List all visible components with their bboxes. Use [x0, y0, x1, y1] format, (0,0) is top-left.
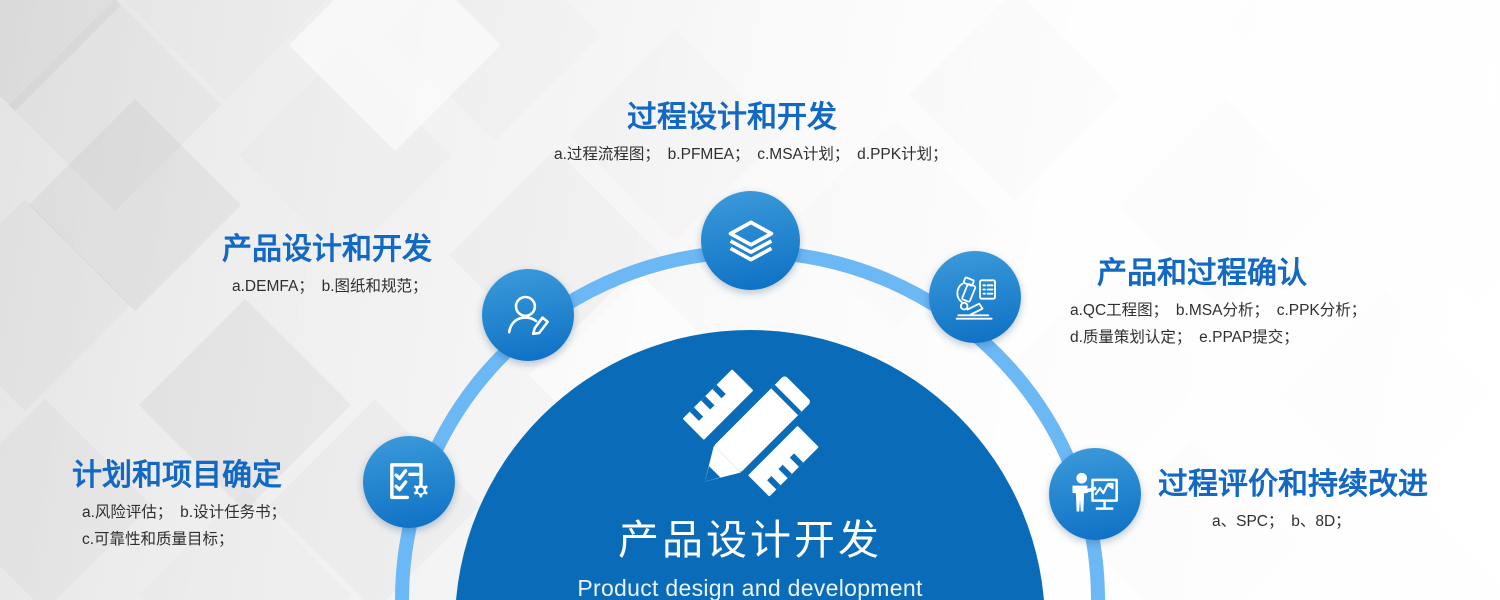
label-title: 产品和过程确认	[1097, 256, 1366, 291]
pattern-diamond	[0, 0, 121, 111]
pattern-diamond	[1229, 0, 1441, 131]
pattern-diamond	[389, 0, 601, 141]
pattern-diamond	[119, 0, 331, 101]
label-product-process-validation: 产品和过程确认 a.QC工程图； b.MSA分析； c.PPK分析； d.质量策…	[1097, 256, 1366, 352]
label-title: 产品设计和开发	[222, 232, 432, 267]
label-evaluation-improvement: 过程评价和持续改进 a、SPC； b、8D；	[1158, 467, 1428, 536]
pencil-ruler-icon	[670, 360, 830, 510]
label-detail-line: a.DEMFA； b.图纸和规范；	[232, 274, 432, 301]
presenter-chart-icon	[1070, 469, 1120, 519]
node-plan-and-define[interactable]	[363, 436, 455, 528]
label-title: 过程设计和开发	[627, 100, 948, 135]
label-title: 过程评价和持续改进	[1158, 467, 1428, 502]
label-detail-line: d.质量策划认定； e.PPAP提交；	[1070, 325, 1366, 352]
label-process-design: 过程设计和开发 a.过程流程图； b.PFMEA； c.MSA计划； d.PPK…	[627, 100, 948, 169]
label-detail-line: a、SPC； b、8D；	[1212, 509, 1428, 536]
node-product-design[interactable]	[482, 269, 574, 361]
node-evaluation-improvement[interactable]	[1049, 448, 1141, 540]
pattern-diamond	[0, 199, 131, 411]
pattern-diamond	[29, 99, 241, 311]
microscope-checklist-icon	[950, 272, 1000, 322]
layers-stack-icon	[725, 215, 777, 267]
center-title-en: Product design and development	[577, 575, 922, 600]
person-pencil-icon	[504, 291, 552, 339]
center-hub: 产品设计开发 Product design and development	[455, 330, 1045, 600]
pattern-diamond	[239, 49, 451, 261]
clipboard-gear-icon	[385, 458, 433, 506]
node-product-process-validation[interactable]	[929, 251, 1021, 343]
label-product-design: 产品设计和开发 a.DEMFA； b.图纸和规范；	[222, 232, 432, 301]
pattern-diamond	[9, 0, 221, 211]
label-detail-line: a.过程流程图； b.PFMEA； c.MSA计划； d.PPK计划；	[554, 142, 948, 169]
label-plan-and-define: 计划和项目确定 a.风险评估； b.设计任务书； c.可靠性和质量目标；	[72, 458, 286, 554]
label-detail-line: a.QC工程图； b.MSA分析； c.PPK分析；	[1070, 298, 1366, 325]
label-detail-line: a.风险评估； b.设计任务书；	[82, 500, 286, 527]
pattern-diamond	[289, 0, 501, 151]
banner-stage: 产品设计开发 Product design and development	[0, 0, 1500, 600]
center-title-cn: 产品设计开发	[618, 518, 882, 563]
pattern-diamond	[1369, 89, 1500, 301]
label-title: 计划和项目确定	[72, 458, 286, 493]
label-detail-line: c.可靠性和质量目标；	[82, 527, 286, 554]
node-process-design[interactable]	[701, 191, 800, 290]
